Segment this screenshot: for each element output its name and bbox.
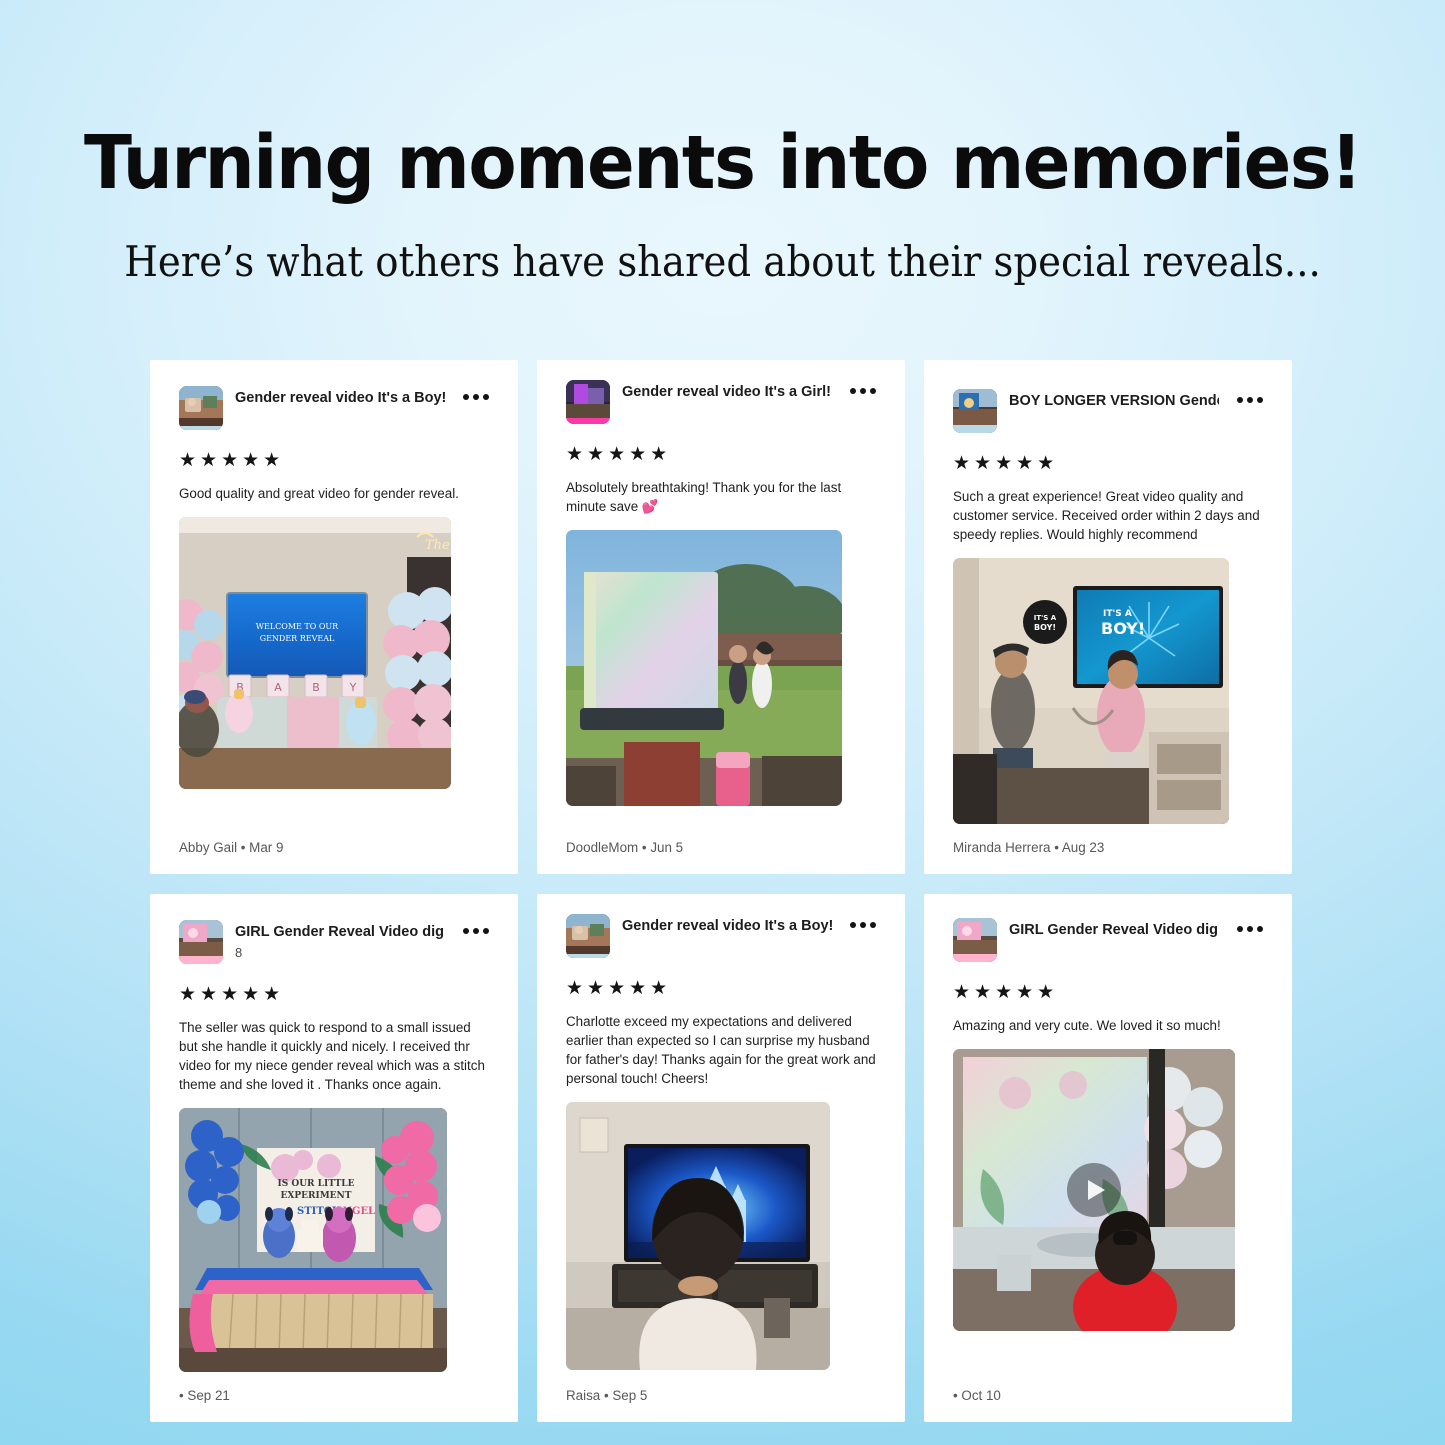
listing-meta: Gender reveal video It's a Girl! Vide... [622,380,832,401]
review-photo[interactable] [566,1102,830,1370]
review-photo[interactable]: IS OUR LITTLE EXPERIMENT STITCH ANGEL [179,1108,447,1372]
review-card[interactable]: GIRL Gender Reveal Video digital ... ★★★… [924,894,1292,1422]
review-card-header: Gender reveal video It's a Girl! Vide... [566,380,876,432]
review-card-header: BOY LONGER VERSION Gender ... [953,389,1263,441]
rating-stars: ★★★★★ [953,454,1263,473]
svg-text:GENDER REVEAL: GENDER REVEAL [260,634,335,643]
review-video-thumbnail[interactable] [953,1049,1235,1331]
review-byline: Miranda Herrera • Aug 23 [953,824,1263,874]
rating-stars: ★★★★★ [179,451,489,470]
listing-meta: Gender reveal video It's a Boy! Vide... [235,386,445,407]
review-body: The seller was quick to respond to a sma… [179,1020,485,1092]
more-horizontal-icon[interactable] [1237,918,1263,932]
listing-title[interactable]: GIRL Gender Reveal Video digital ... [235,923,445,941]
review-text: Absolutely breathtaking! Thank you for t… [566,478,876,516]
review-body: Amazing and very cute. We loved it so mu… [953,1018,1221,1033]
listing-thumbnail[interactable] [179,386,223,430]
listing-thumbnail[interactable] [953,918,997,962]
listing-title[interactable]: Gender reveal video It's a Boy! Vide... [235,389,445,407]
more-horizontal-icon[interactable] [463,386,489,400]
review-card[interactable]: Gender reveal video It's a Girl! Vide...… [537,360,905,874]
more-horizontal-icon[interactable] [850,380,876,394]
rating-stars: ★★★★★ [566,445,876,464]
svg-text:IT'S A: IT'S A [1103,609,1132,619]
review-byline: Abby Gail • Mar 9 [179,824,489,874]
svg-text:Y: Y [349,681,357,694]
svg-text:BOY!: BOY! [1034,623,1056,632]
review-text: The seller was quick to respond to a sma… [179,1018,489,1094]
review-card[interactable]: GIRL Gender Reveal Video digital ... 8 ★… [150,894,518,1422]
listing-meta: Gender reveal video It's a Boy! Vide... [622,914,832,935]
svg-text:IS OUR LITTLE: IS OUR LITTLE [278,1179,355,1189]
svg-text:EXPERIMENT: EXPERIMENT [281,1191,352,1201]
reviews-grid: Gender reveal video It's a Boy! Vide... … [150,360,1294,1422]
review-photo[interactable] [566,530,842,806]
review-card-header: GIRL Gender Reveal Video digital ... 8 [179,920,489,972]
svg-text:IT'S A: IT'S A [1034,614,1057,622]
listing-title[interactable]: Gender reveal video It's a Girl! Vide... [622,383,832,401]
svg-text:B: B [312,681,320,694]
svg-text:WELCOME TO OUR: WELCOME TO OUR [256,622,339,631]
listing-meta: GIRL Gender Reveal Video digital ... [1009,918,1219,939]
more-horizontal-icon[interactable] [850,914,876,928]
review-byline: • Sep 21 [179,1372,489,1422]
review-card-header: GIRL Gender Reveal Video digital ... [953,918,1263,970]
svg-text:BOY!: BOY! [1101,619,1145,638]
listing-title[interactable]: BOY LONGER VERSION Gender ... [1009,392,1219,410]
review-body: Charlotte exceed my expectations and del… [566,1014,876,1086]
review-byline: DoodleMom • Jun 5 [566,824,876,874]
review-photo[interactable]: The C WELCOME TO OUR GENDER REVEAL BABY [179,517,451,789]
review-card[interactable]: BOY LONGER VERSION Gender ... ★★★★★ Such… [924,360,1292,874]
page-title: Turning moments into memories! [36,126,1409,200]
listing-meta: GIRL Gender Reveal Video digital ... 8 [235,920,445,961]
review-text: Good quality and great video for gender … [179,484,489,503]
review-body: Good quality and great video for gender … [179,486,459,501]
svg-text:The C: The C [425,538,451,553]
play-icon[interactable] [1067,1163,1121,1217]
rating-stars: ★★★★★ [179,985,489,1004]
listing-subtitle: 8 [235,945,445,961]
testimonial-page: Turning moments into memories! Here’s wh… [0,0,1445,1445]
more-horizontal-icon[interactable] [1237,389,1263,403]
review-text: Charlotte exceed my expectations and del… [566,1012,876,1088]
review-body: Absolutely breathtaking! Thank you for t… [566,480,841,514]
review-card[interactable]: Gender reveal video It's a Boy! Vide... … [537,894,905,1422]
review-body: Such a great experience! Great video qua… [953,489,1260,542]
review-byline: Raisa • Sep 5 [566,1372,876,1422]
listing-thumbnail[interactable] [179,920,223,964]
review-card-header: Gender reveal video It's a Boy! Vide... [179,386,489,438]
review-photo[interactable]: IT'S A BOY! IT'S A BOY! [953,558,1229,824]
listing-title[interactable]: GIRL Gender Reveal Video digital ... [1009,921,1219,939]
review-byline: • Oct 10 [953,1372,1263,1422]
listing-title[interactable]: Gender reveal video It's a Boy! Vide... [622,917,832,935]
review-card-header: Gender reveal video It's a Boy! Vide... [566,914,876,966]
review-text: Amazing and very cute. We loved it so mu… [953,1016,1263,1035]
review-text: Such a great experience! Great video qua… [953,487,1263,544]
page-header: Turning moments into memories! Here’s wh… [0,126,1445,284]
rating-stars: ★★★★★ [566,979,876,998]
page-subtitle: Here’s what others have shared about the… [58,240,1387,284]
two-hearts-emoji: 💕 [642,499,659,514]
review-card[interactable]: Gender reveal video It's a Boy! Vide... … [150,360,518,874]
listing-thumbnail[interactable] [566,380,610,424]
listing-thumbnail[interactable] [953,389,997,433]
more-horizontal-icon[interactable] [463,920,489,934]
listing-thumbnail[interactable] [566,914,610,958]
svg-text:A: A [274,681,282,694]
listing-meta: BOY LONGER VERSION Gender ... [1009,389,1219,410]
rating-stars: ★★★★★ [953,983,1263,1002]
